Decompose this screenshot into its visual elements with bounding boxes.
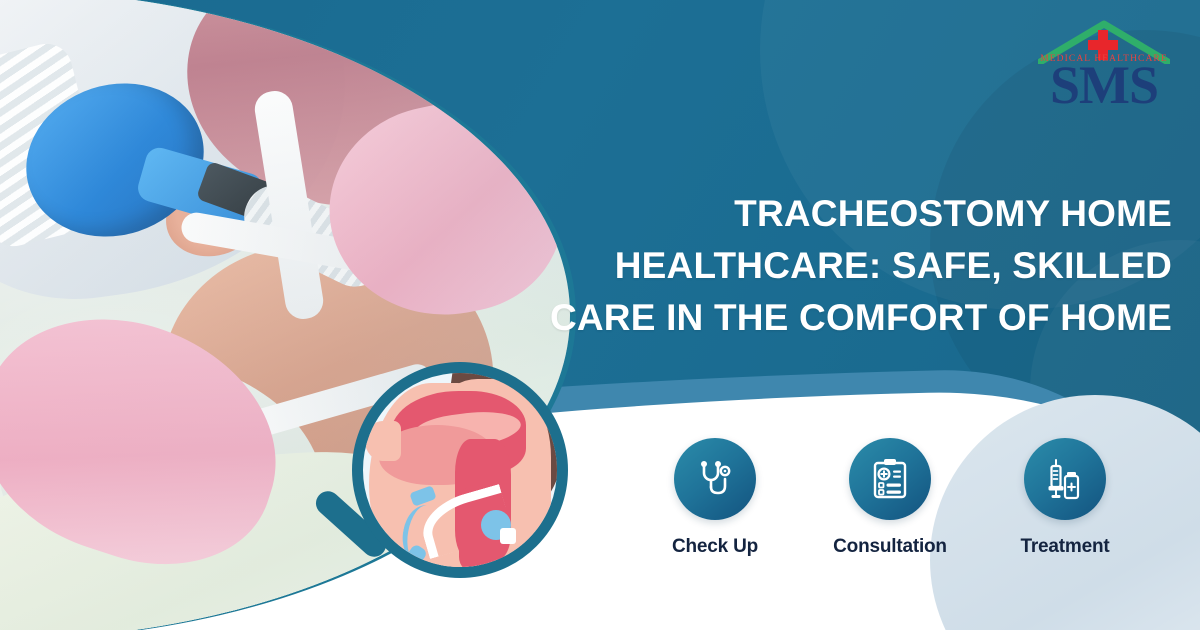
tracheostomy-neck-tie bbox=[398, 502, 446, 566]
tracheostomy-port bbox=[500, 528, 516, 544]
magnifier-frame bbox=[352, 362, 568, 578]
feature-icon-badge bbox=[674, 438, 756, 520]
anatomy-hair bbox=[433, 362, 568, 527]
anatomy-pharynx bbox=[455, 439, 511, 559]
sms-logo[interactable]: MEDICAL HEALTHCARE SMS bbox=[1034, 14, 1174, 114]
anatomy-soft-palate bbox=[413, 406, 523, 454]
tracheostomy-tie-end bbox=[398, 543, 428, 577]
feature-label: Consultation bbox=[833, 536, 947, 558]
headline-line-2: HEALTHCARE: SAFE, SKILLED bbox=[500, 240, 1172, 292]
feature-label: Treatment bbox=[1020, 536, 1109, 558]
stethoscope-icon bbox=[693, 457, 737, 501]
anatomy-neck bbox=[411, 465, 541, 578]
tracheostomy-anatomy-illustration bbox=[352, 362, 568, 578]
feature-consultation[interactable]: Consultation bbox=[815, 438, 965, 558]
anatomy-trachea bbox=[459, 485, 503, 573]
anatomy-nasal-cavity bbox=[391, 391, 526, 475]
feature-check-up[interactable]: Check Up bbox=[640, 438, 790, 558]
logo-cross-icon-bar bbox=[1088, 40, 1118, 50]
feature-list: Check Up Consultation bbox=[640, 438, 1140, 558]
anatomy-lips bbox=[365, 421, 401, 461]
anatomy-tongue bbox=[379, 425, 495, 485]
headline-line-3: CARE IN THE COMFORT OF HOME bbox=[500, 292, 1172, 344]
clipboard-medical-icon bbox=[868, 457, 912, 501]
feature-treatment[interactable]: Treatment bbox=[990, 438, 1140, 558]
tracheostomy-tube bbox=[415, 484, 513, 559]
feature-label: Check Up bbox=[672, 536, 758, 558]
feature-icon-badge bbox=[1024, 438, 1106, 520]
logo-brand: SMS bbox=[1034, 58, 1174, 112]
feature-icon-badge bbox=[849, 438, 931, 520]
tracheostomy-tube-stub bbox=[409, 485, 436, 506]
healthcare-banner: MEDICAL HEALTHCARE SMS TRACHEOSTOMY HOME… bbox=[0, 0, 1200, 630]
anatomy-head-profile bbox=[416, 379, 551, 578]
page-title: TRACHEOSTOMY HOME HEALTHCARE: SAFE, SKIL… bbox=[500, 188, 1172, 343]
tracheostomy-flange bbox=[481, 510, 511, 540]
anatomy-face-front bbox=[369, 383, 489, 578]
headline-line-1: TRACHEOSTOMY HOME bbox=[500, 188, 1172, 240]
syringe-vial-icon bbox=[1043, 457, 1087, 501]
